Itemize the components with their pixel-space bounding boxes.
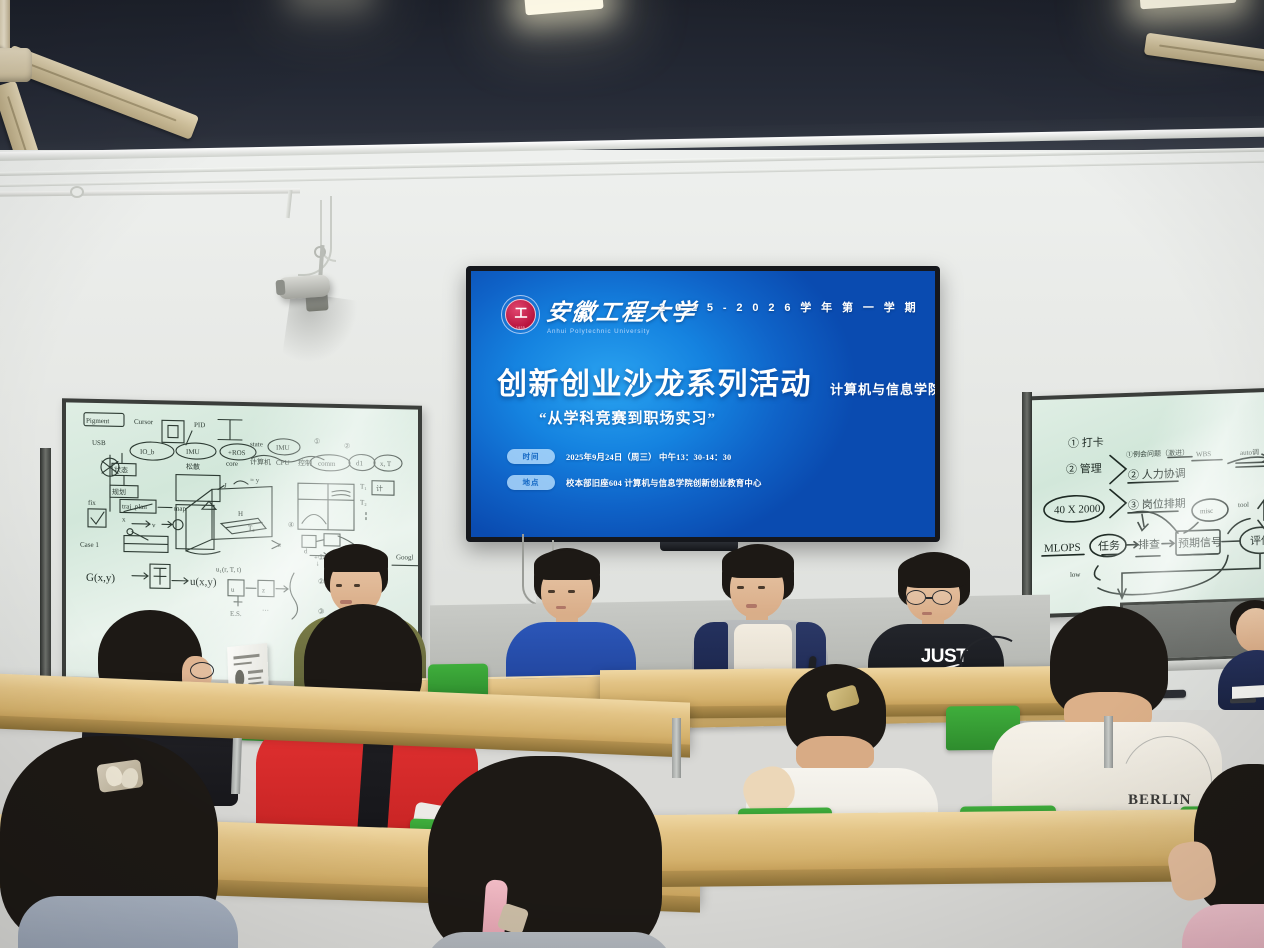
slide-title: 创新创业沙龙系列活动 xyxy=(497,359,812,403)
svg-text:① 打卡: ① 打卡 xyxy=(1068,435,1104,450)
svg-text:d1: d1 xyxy=(356,459,363,467)
svg-text:E.S.: E.S. xyxy=(230,610,242,618)
crest-year: 1935 xyxy=(516,326,525,330)
svg-text:IO_b: IO_b xyxy=(140,448,155,456)
svg-text:CPU: CPU xyxy=(276,459,290,467)
svg-text:Pigment: Pigment xyxy=(86,417,109,425)
svg-text:IMU: IMU xyxy=(186,448,200,456)
svg-text:MLOPS: MLOPS xyxy=(1044,542,1081,555)
svg-text:auto调: auto调 xyxy=(1240,447,1259,457)
long-hair xyxy=(428,756,662,948)
card-line xyxy=(248,677,261,680)
hair-fringe xyxy=(722,546,794,578)
svg-text:low: low xyxy=(1070,571,1081,579)
svg-text:z: z xyxy=(278,541,281,549)
card-line xyxy=(234,662,252,666)
svg-text:G(x,y): G(x,y) xyxy=(86,572,115,585)
svg-text:IMU: IMU xyxy=(276,444,290,452)
mouth xyxy=(746,604,757,608)
svg-text:Cursor: Cursor xyxy=(134,418,154,426)
camera-lens-icon xyxy=(275,280,285,296)
svg-text:u: u xyxy=(231,586,235,594)
time-value: 2025年9月24日（周三） 中午13：30-14：30 xyxy=(566,451,731,463)
ceiling-fan xyxy=(0,0,224,142)
svg-text:+ROS: +ROS xyxy=(228,449,246,457)
svg-text:USB: USB xyxy=(92,439,106,447)
term-banner: 2 0 2 5 - 2 0 2 6 学 年 第 一 学 期 xyxy=(659,299,919,315)
slide-subtitle: “从学科竞赛到职场实习” xyxy=(539,407,716,428)
eye xyxy=(548,590,555,593)
torso-grey-blue-top xyxy=(18,896,238,948)
svg-text:② 管理: ② 管理 xyxy=(1066,461,1102,476)
right-whiteboard: ① 打卡 ② 管理 ①例会问题（激进） ② 人力协调 ③ 岗位排期 40 X 2… xyxy=(1028,388,1264,619)
fan-blade xyxy=(1144,33,1264,74)
svg-text:②: ② xyxy=(344,442,350,450)
hair-fringe xyxy=(324,546,388,572)
svg-text:评估: 评估 xyxy=(1250,534,1264,548)
location-label-pill: 地点 xyxy=(507,475,555,490)
slide-info-rows: 时间 2025年9月24日（周三） 中午13：30-14：30 地点 校本部旧座… xyxy=(507,449,762,490)
svg-text:② 人力协调: ② 人力协调 xyxy=(1128,466,1186,482)
svg-text:core: core xyxy=(226,460,238,468)
head xyxy=(1236,608,1264,652)
svg-text:= y: = y xyxy=(250,476,260,484)
eye xyxy=(737,586,744,589)
crest-mark: 工 xyxy=(514,307,526,320)
hair-fringe xyxy=(534,550,600,580)
mouth xyxy=(556,606,566,609)
svg-text:排查: 排查 xyxy=(1138,537,1160,552)
fan-hub xyxy=(0,48,32,82)
svg-text:fix: fix xyxy=(88,499,96,507)
conduit-bracket xyxy=(70,186,84,198)
info-row-location: 地点 校本部旧座604 计算机与信息学院创新创业教育中心 xyxy=(507,475,762,490)
svg-text:PID: PID xyxy=(194,421,205,429)
svg-text:T₂: T₂ xyxy=(248,524,255,532)
eye xyxy=(568,590,575,593)
torso-grey-top xyxy=(424,932,674,948)
torso-pink-top xyxy=(1182,904,1264,948)
svg-text:u₁(r, T, t): u₁(r, T, t) xyxy=(216,565,242,574)
svg-text:40 X 2000: 40 X 2000 xyxy=(1054,503,1101,517)
svg-text:①: ① xyxy=(314,438,320,446)
svg-text:z: z xyxy=(262,586,265,594)
ceiling-fan-right xyxy=(1144,38,1264,98)
svg-text:T₂: T₂ xyxy=(360,498,367,506)
classroom-photo: Pigment Cursor PID USB IO_b IMU +ROS cor… xyxy=(0,0,1264,948)
svg-text:state: state xyxy=(250,440,263,448)
svg-text:任务: 任务 xyxy=(1098,539,1120,553)
glasses-bridge xyxy=(926,597,933,599)
hair-fringe xyxy=(898,554,970,588)
glasses-icon xyxy=(932,590,952,605)
eye xyxy=(336,584,342,587)
eye xyxy=(354,584,360,587)
svg-text:预期信号: 预期信号 xyxy=(1178,536,1222,551)
svg-text:WBS: WBS xyxy=(1196,450,1211,459)
svg-text:规划: 规划 xyxy=(112,487,126,496)
svg-text:u(x,y): u(x,y) xyxy=(190,576,217,589)
university-crest-icon: 工 1935 xyxy=(501,295,540,334)
svg-text:Case 1: Case 1 xyxy=(80,541,99,549)
card-line xyxy=(233,654,259,660)
audience-7 xyxy=(1176,764,1264,948)
svg-text:x: x xyxy=(122,515,126,523)
info-row-time: 时间 2025年9月24日（周三） 中午13：30-14：30 xyxy=(507,449,762,464)
glasses-icon xyxy=(190,662,214,679)
svg-text:松散: 松散 xyxy=(186,462,200,471)
glasses-icon xyxy=(906,590,926,605)
slide-department: 计算机与信息学院 xyxy=(830,379,935,398)
desk-leg xyxy=(1104,716,1113,768)
card-line xyxy=(248,669,263,674)
svg-text:v: v xyxy=(152,521,156,529)
audience-6 xyxy=(406,756,686,948)
wall-mounted-tv[interactable]: 工 1935 安徽工程大学 Anhui Polytechnic Universi… xyxy=(466,266,940,542)
slide-title-row: 创新创业沙龙系列活动 计算机与信息学院 xyxy=(497,359,935,403)
whiteboard-left-post xyxy=(40,448,51,696)
mouth xyxy=(922,612,932,615)
svg-text:comm: comm xyxy=(318,460,336,468)
svg-text:tool: tool xyxy=(1238,501,1249,509)
svg-text:④: ④ xyxy=(288,521,294,529)
eye xyxy=(758,586,765,589)
fan-blade xyxy=(4,45,200,140)
svg-text:misc: misc xyxy=(1200,507,1213,515)
svg-text:计算机: 计算机 xyxy=(250,457,271,466)
panelist-5-partial xyxy=(1224,600,1264,696)
audience-5 xyxy=(0,736,250,948)
time-label-pill: 时间 xyxy=(507,449,555,464)
paper-on-table xyxy=(1232,685,1264,699)
svg-text:H: H xyxy=(238,510,243,518)
svg-text:③ 岗位排期: ③ 岗位排期 xyxy=(1128,496,1186,512)
right-whiteboard-notes: ① 打卡 ② 管理 ①例会问题（激进） ② 人力协调 ③ 岗位排期 40 X 2… xyxy=(1032,391,1264,618)
svg-text:计: 计 xyxy=(376,484,383,493)
svg-text:x, T: x, T xyxy=(380,460,392,468)
university-name-en: Anhui Polytechnic University xyxy=(547,328,697,335)
fan-rod xyxy=(0,0,10,48)
security-camera-icon xyxy=(277,274,330,300)
svg-text:T₁: T₁ xyxy=(360,482,367,490)
tv-screen: 工 1935 安徽工程大学 Anhui Polytechnic Universi… xyxy=(471,271,935,537)
location-value: 校本部旧座604 计算机与信息学院创新创业教育中心 xyxy=(566,477,762,489)
